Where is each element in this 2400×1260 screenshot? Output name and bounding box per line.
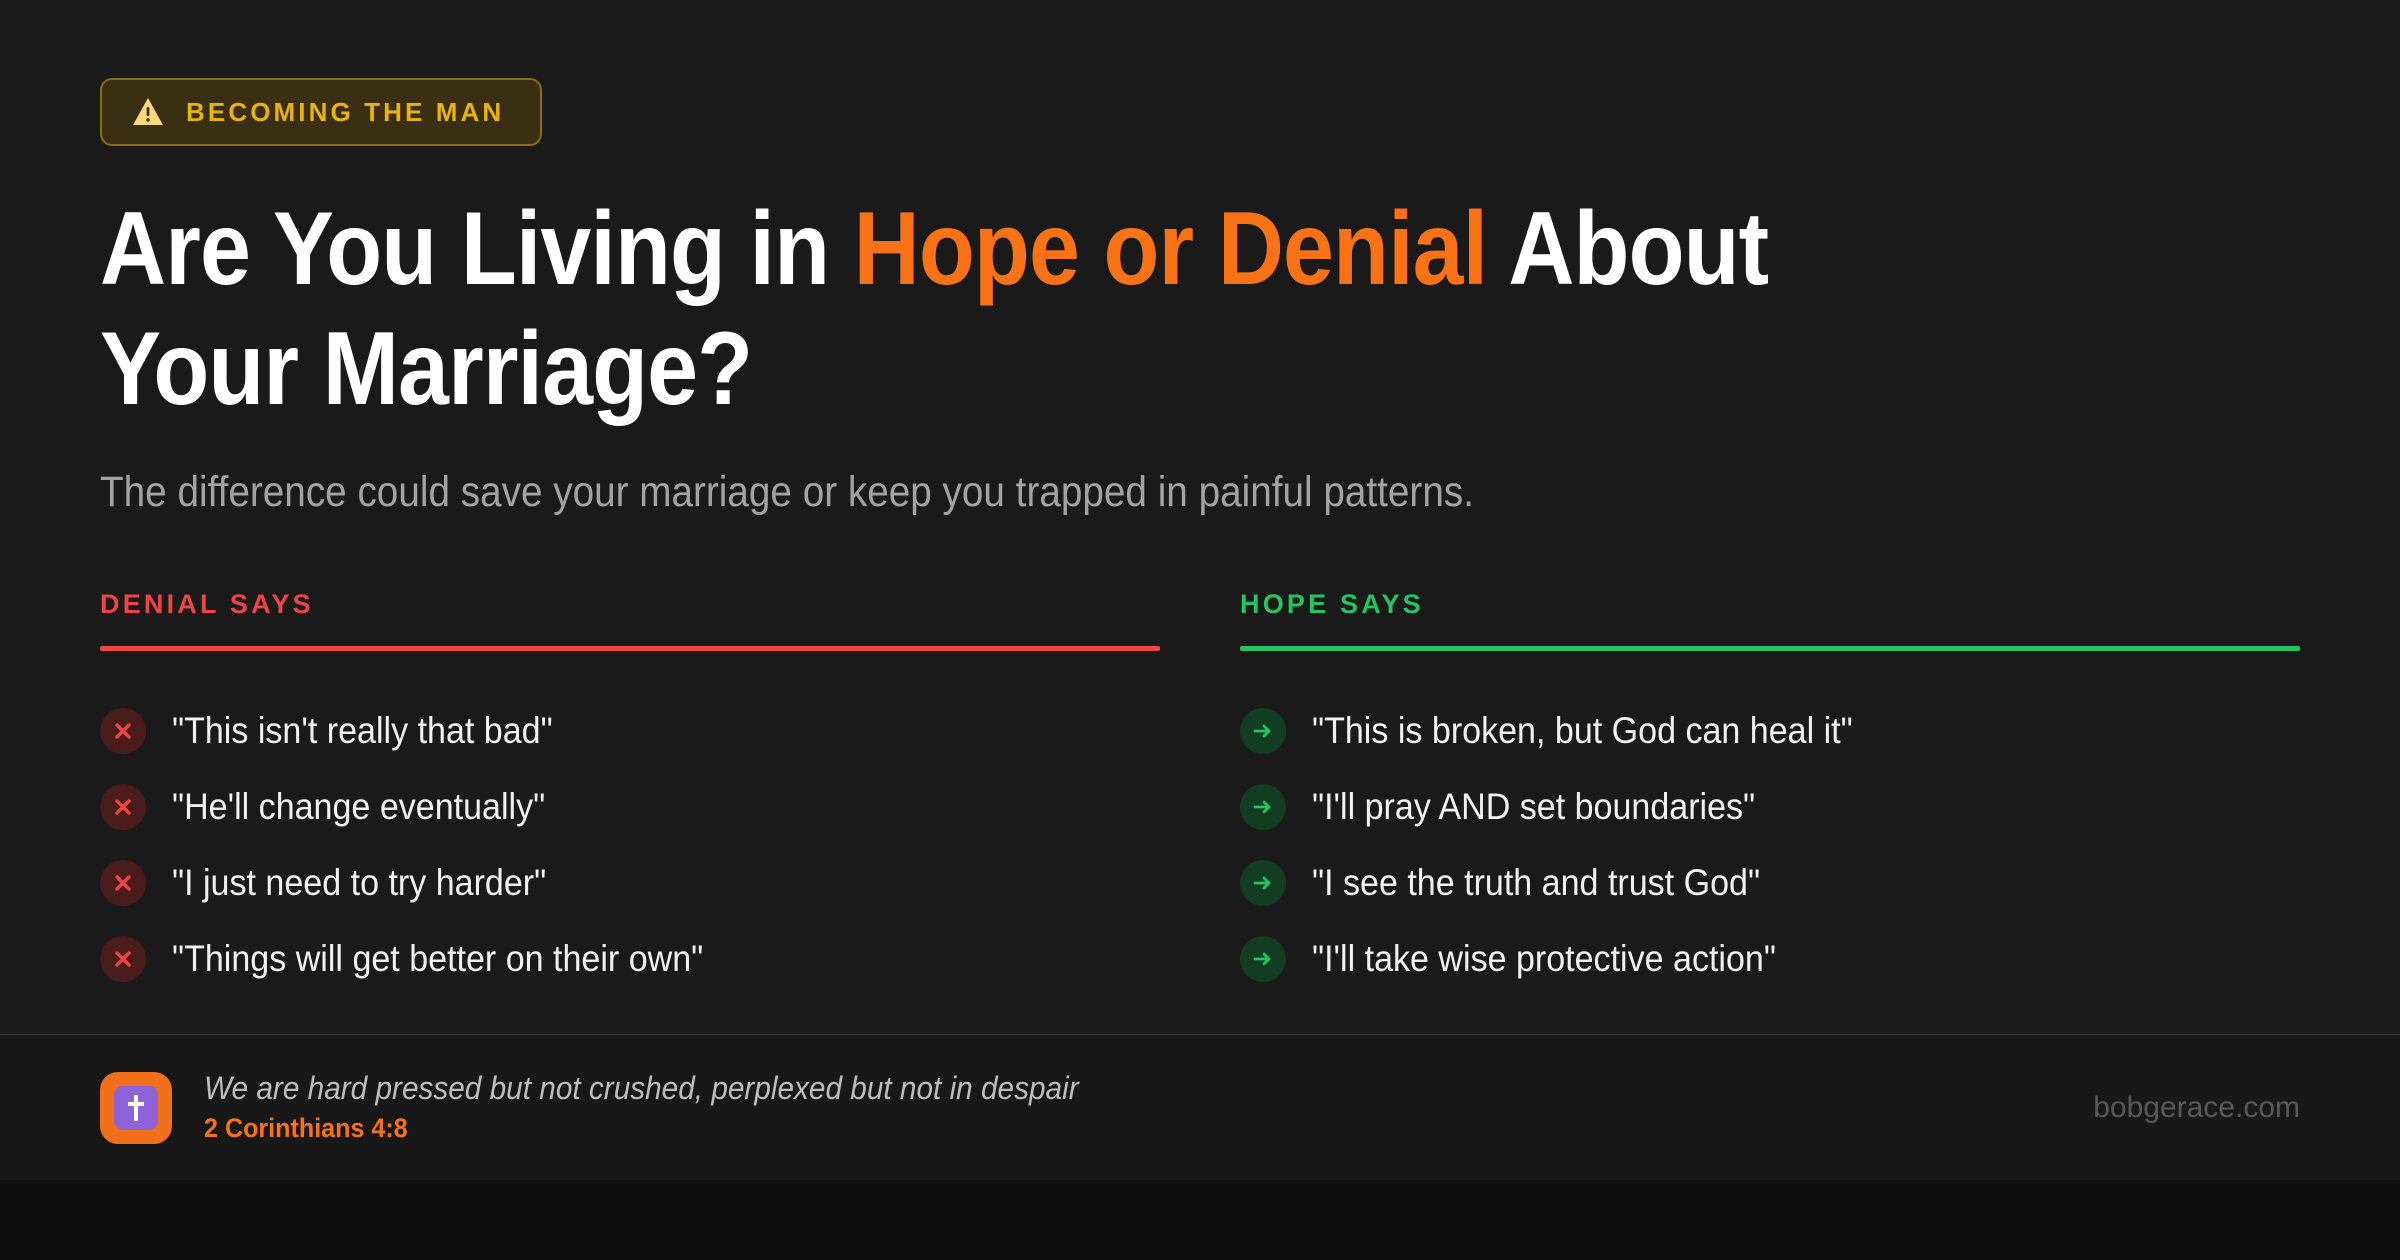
list-item: "I'll pray AND set boundaries" xyxy=(1240,769,2300,845)
page-subtitle: The difference could save your marriage … xyxy=(100,465,2080,521)
list-item: "Things will get better on their own" xyxy=(100,921,1160,997)
warning-triangle-icon xyxy=(132,97,164,127)
column-denial-list: "This isn't really that bad" "He'll chan… xyxy=(100,693,1160,997)
arrow-right-icon xyxy=(1240,936,1286,982)
column-hope-heading: HOPE SAYS xyxy=(1240,591,2300,646)
scripture-quote: We are hard pressed but not crushed, per… xyxy=(204,1071,1079,1106)
series-badge: BECOMING THE MAN xyxy=(100,78,542,146)
column-denial: DENIAL SAYS "This isn't really that bad" xyxy=(100,591,1160,997)
list-item: "This isn't really that bad" xyxy=(100,693,1160,769)
headline-accent: Hope or Denial xyxy=(854,191,1488,307)
list-item-label: "I just need to try harder" xyxy=(172,863,546,904)
list-item-label: "Things will get better on their own" xyxy=(172,939,703,980)
x-mark-icon xyxy=(100,784,146,830)
page-title: Are You Living in Hope or Denial About Y… xyxy=(100,190,1930,429)
cross-icon-inner xyxy=(114,1086,158,1130)
list-item-label: "He'll change eventually" xyxy=(172,787,545,828)
x-mark-icon xyxy=(100,860,146,906)
list-item-label: "I'll pray AND set boundaries" xyxy=(1312,787,1755,828)
list-item-label: "This isn't really that bad" xyxy=(172,711,553,752)
list-item: "I see the truth and trust God" xyxy=(1240,845,2300,921)
scripture-reference: 2 Corinthians 4:8 xyxy=(204,1114,1079,1144)
comparison-columns: DENIAL SAYS "This isn't really that bad" xyxy=(100,591,2300,997)
x-mark-icon xyxy=(100,936,146,982)
list-item-label: "I see the truth and trust God" xyxy=(1312,863,1760,904)
scripture-block: We are hard pressed but not crushed, per… xyxy=(100,1071,1144,1144)
arrow-right-icon xyxy=(1240,860,1286,906)
column-hope-rule xyxy=(1240,646,2300,651)
scripture-text: We are hard pressed but not crushed, per… xyxy=(204,1071,1144,1144)
list-item: "This is broken, but God can heal it" xyxy=(1240,693,2300,769)
footer-bar: We are hard pressed but not crushed, per… xyxy=(0,1034,2400,1180)
series-badge-label: BECOMING THE MAN xyxy=(186,99,504,125)
headline-part-1: Are You Living in xyxy=(100,191,854,307)
site-watermark: bobgerace.com xyxy=(2093,1093,2300,1123)
list-item-label: "I'll take wise protective action" xyxy=(1312,939,1776,980)
arrow-right-icon xyxy=(1240,708,1286,754)
column-denial-rule xyxy=(100,646,1160,651)
arrow-right-icon xyxy=(1240,784,1286,830)
list-item-label: "This is broken, but God can heal it" xyxy=(1312,711,1853,752)
cross-icon xyxy=(100,1072,172,1144)
list-item: "He'll change eventually" xyxy=(100,769,1160,845)
x-mark-icon xyxy=(100,708,146,754)
column-hope-list: "This is broken, but God can heal it" "I… xyxy=(1240,693,2300,997)
main-content: BECOMING THE MAN Are You Living in Hope … xyxy=(0,0,2400,1034)
slide-root: BECOMING THE MAN Are You Living in Hope … xyxy=(0,0,2400,1260)
list-item: "I'll take wise protective action" xyxy=(1240,921,2300,997)
bottom-strip xyxy=(0,1180,2400,1260)
list-item: "I just need to try harder" xyxy=(100,845,1160,921)
column-denial-heading: DENIAL SAYS xyxy=(100,591,1160,646)
column-hope: HOPE SAYS "This is broken, but God can h… xyxy=(1240,591,2300,997)
